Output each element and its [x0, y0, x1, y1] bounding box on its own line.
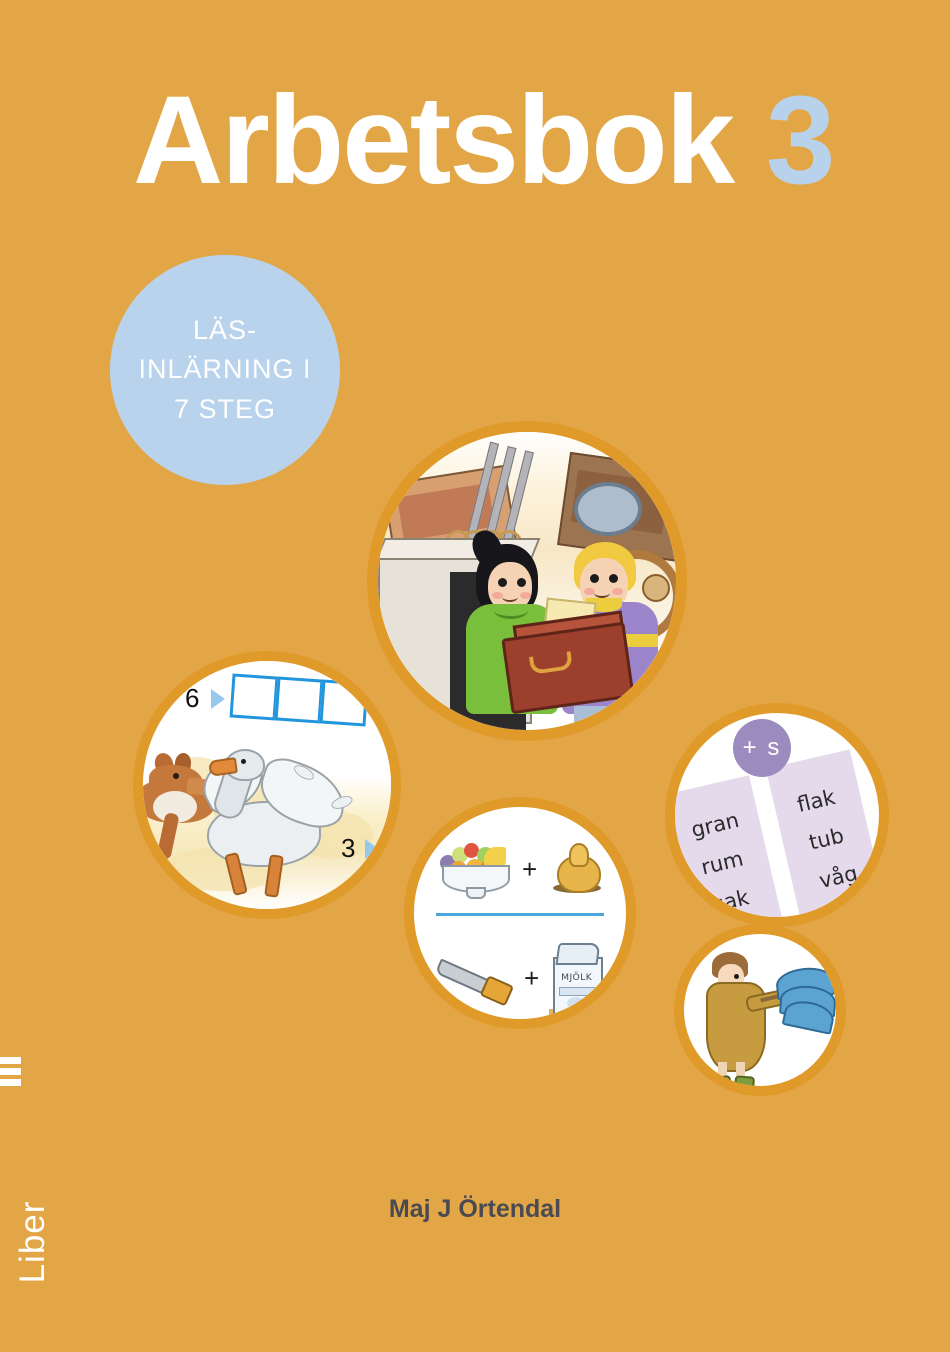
series-badge: LÄS- INLÄRNING I 7 STEG — [110, 255, 340, 485]
badge-line-3: 7 STEG — [174, 390, 276, 429]
plus-operator-2: + — [524, 963, 539, 994]
exercise-box — [230, 673, 279, 720]
plus-operator-1: + — [522, 854, 537, 885]
liber-logo-bars-icon — [0, 1057, 21, 1087]
page-title: Arbetsbok 3 — [133, 78, 833, 203]
fox-goose-scene: 6 3 — [143, 661, 391, 909]
word-cards-scene: + s gran rum sak flak tub våg — [675, 713, 879, 917]
badge-line-1: LÄS- — [193, 311, 257, 350]
fruit-bowl-icon — [440, 843, 508, 895]
book-cover: Arbetsbok 3 LÄS- INLÄRNING I 7 STEG — [0, 0, 950, 1352]
exercise-box — [382, 823, 401, 870]
divider-line — [436, 913, 604, 916]
exercise-arrow-1 — [211, 689, 225, 709]
compound-words-scene: + + MJÖLK — [414, 807, 626, 1019]
attic-scene — [378, 432, 676, 730]
publisher-name: Liber — [13, 1187, 53, 1297]
umbrella-scene — [684, 934, 836, 1086]
exercise-box — [275, 676, 324, 723]
exercise-number-3: 3 — [341, 833, 355, 864]
exercise-arrow-2 — [365, 839, 379, 859]
illustration-circle-fox-goose: 6 3 — [133, 651, 401, 919]
author-name: Maj J Örtendal — [0, 1195, 950, 1224]
illustration-circle-compound-words: + + MJÖLK — [404, 797, 636, 1029]
milk-carton-label: MJÖLK — [561, 973, 592, 983]
badge-line-2: INLÄRNING I — [138, 350, 311, 389]
rasp-file-icon — [432, 947, 513, 1008]
plus-s-badge: + s — [733, 719, 791, 777]
compound-row-2: + MJÖLK — [436, 943, 603, 1013]
illustration-circle-attic — [367, 421, 687, 741]
compound-row-1: + — [440, 843, 603, 895]
illustration-circle-umbrella — [674, 924, 846, 1096]
onion-icon — [551, 845, 603, 893]
title-number: 3 — [766, 71, 834, 210]
milk-carton-icon: MJÖLK — [553, 943, 603, 1013]
title-main: Arbetsbok — [133, 71, 733, 210]
illustration-circle-word-cards: + s gran rum sak flak tub våg — [665, 703, 889, 927]
exercise-box — [320, 679, 369, 726]
exercise-number-6: 6 — [185, 683, 199, 714]
